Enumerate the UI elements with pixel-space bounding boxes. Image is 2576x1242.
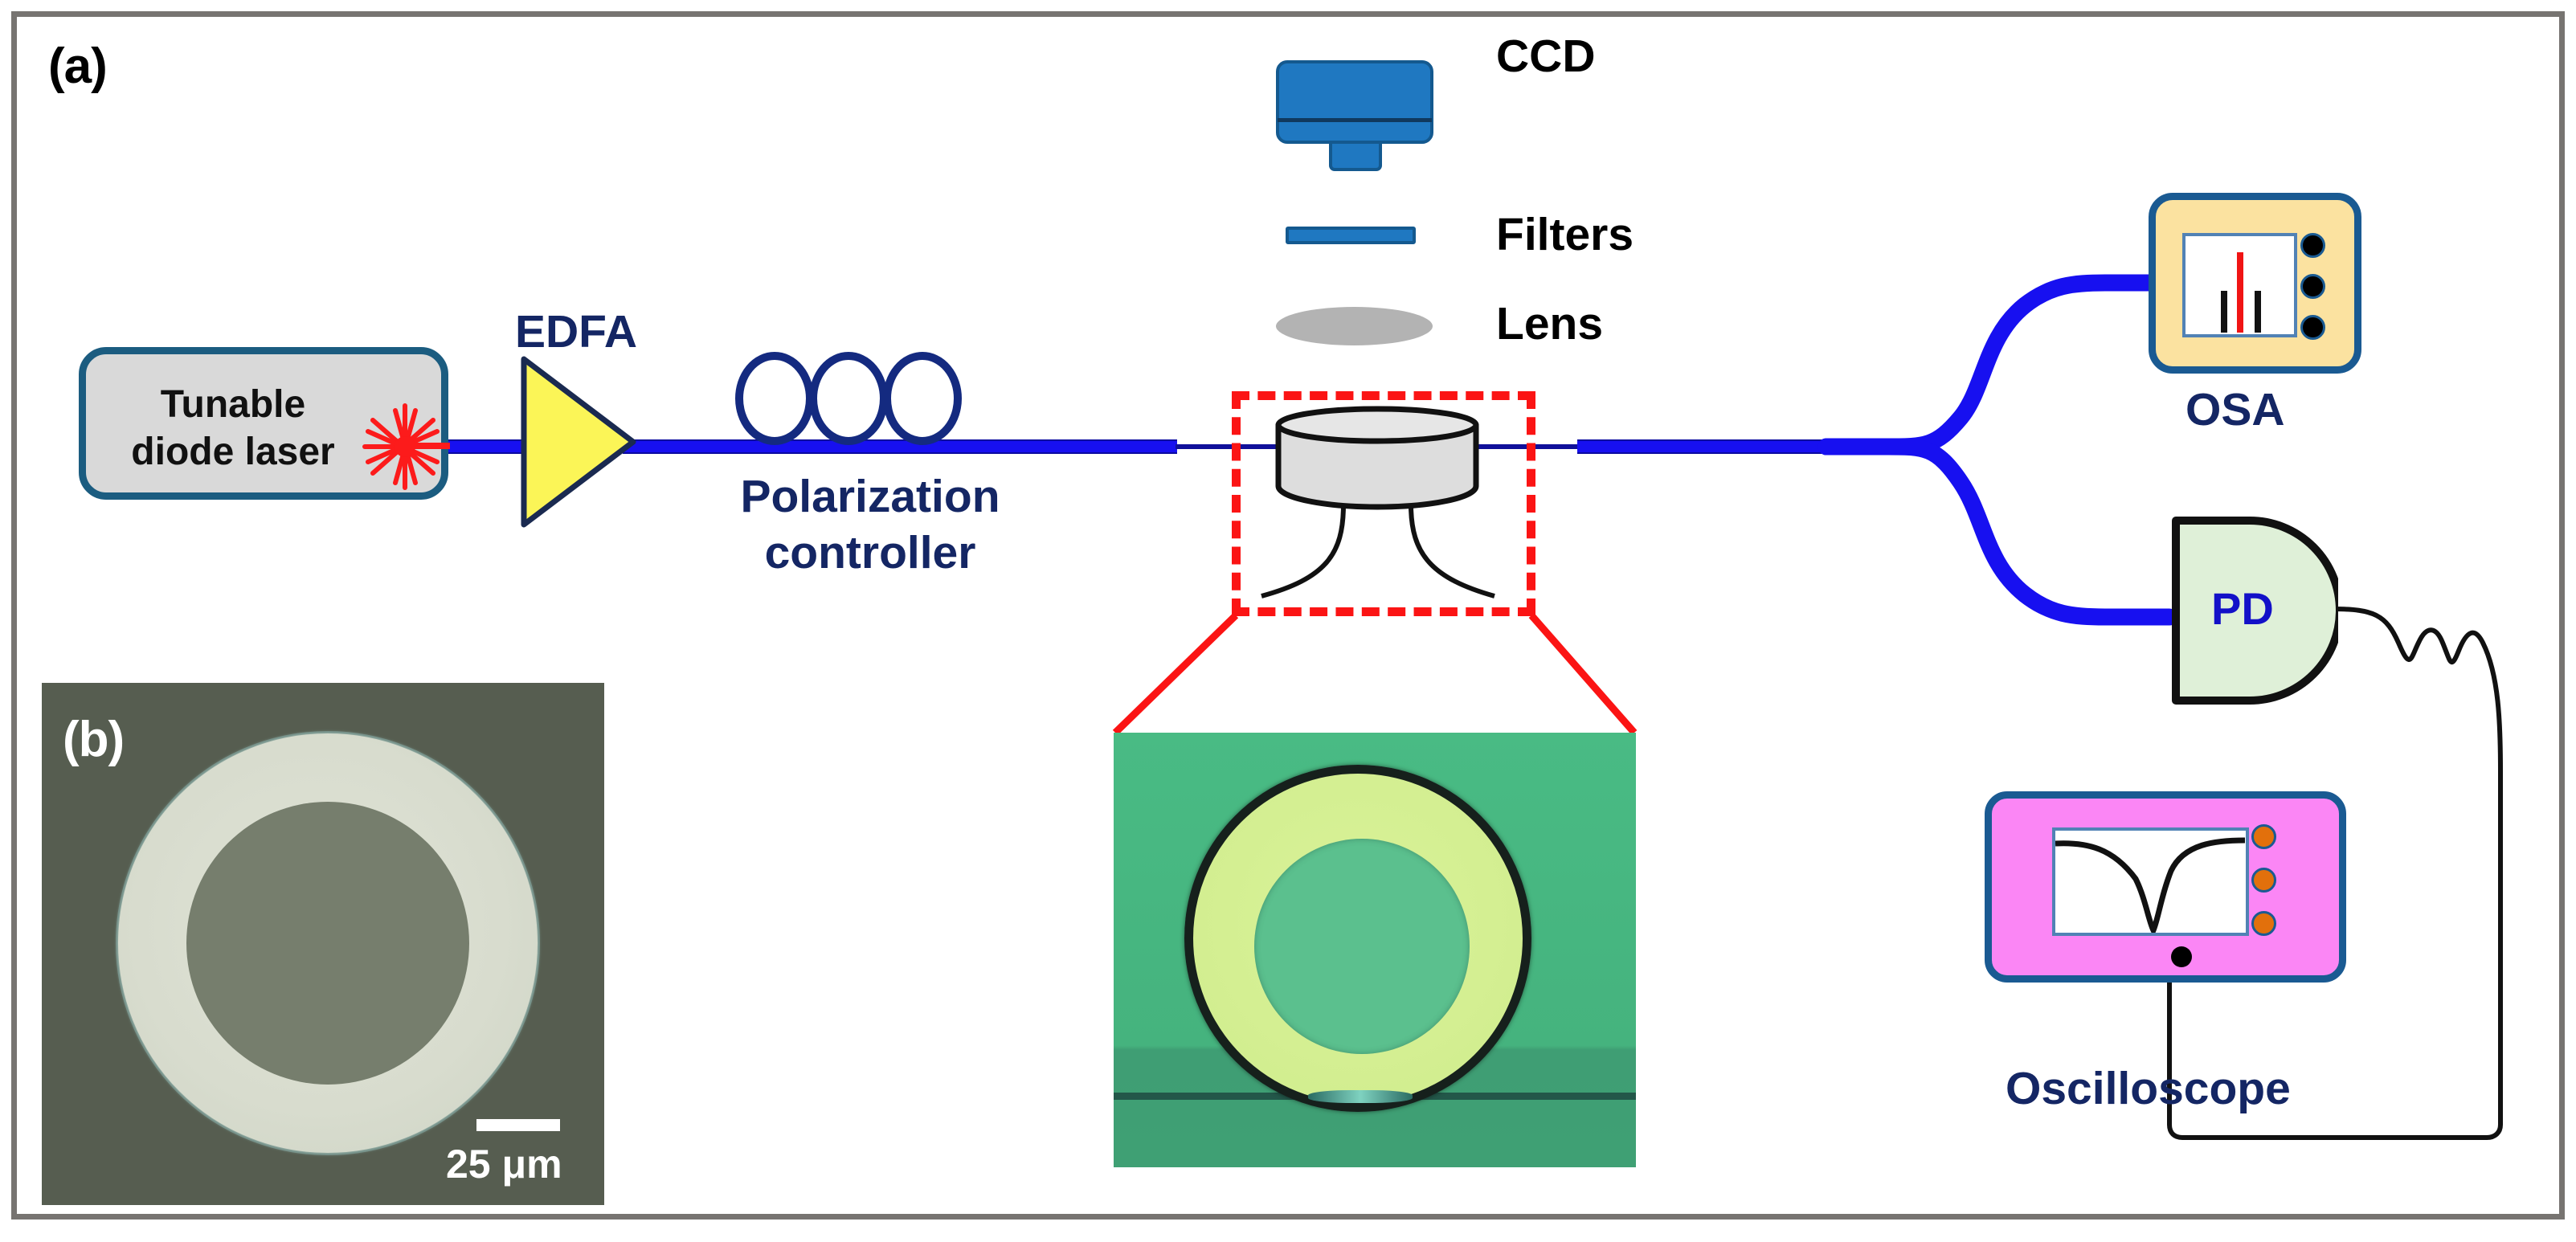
figure-root: (a) Tunable diode la: [0, 0, 2576, 1242]
oscilloscope-knob-3[interactable]: [2251, 911, 2276, 936]
ccd-divider: [1278, 118, 1432, 122]
microdisk-pedestal-icon: [1273, 406, 1482, 514]
filter-bar-icon: [1286, 227, 1416, 244]
osa-knob-3[interactable]: [2300, 315, 2325, 340]
osa-screen: [2182, 233, 2297, 337]
osa-label: OSA: [2186, 387, 2285, 433]
pd-label: PD: [2211, 586, 2274, 631]
fiber-taper-to-coupler: [1577, 439, 1826, 454]
ccd-stand: [1329, 141, 1382, 171]
ccd-body: [1276, 60, 1433, 144]
oscilloscope-input-port[interactable]: [2171, 946, 2192, 967]
legend-label-lens: Lens: [1496, 301, 1603, 347]
osa-spectrum-trace: [2186, 236, 2294, 334]
microdisk-side-view-photo: [1114, 733, 1636, 1167]
pc-label-line1: Polarization: [709, 474, 1031, 520]
osa-knob-1[interactable]: [2300, 233, 2325, 258]
laser-label-line1: Tunable: [161, 383, 305, 426]
lens-ellipse-icon: [1276, 307, 1433, 345]
oscilloscope-knob-2[interactable]: [2251, 868, 2276, 893]
oscilloscope-knob-1[interactable]: [2251, 824, 2276, 849]
legend-label-ccd: CCD: [1496, 34, 1596, 80]
amplifier-triangle-icon: [518, 353, 639, 530]
scale-bar-label: 25 μm: [446, 1144, 562, 1184]
panel-b-letter: (b): [63, 715, 124, 765]
edfa-label: EDFA: [515, 309, 637, 355]
legend-label-filters: Filters: [1496, 212, 1634, 258]
laser-beam-stub: [414, 443, 450, 449]
oscilloscope-screen: [2052, 827, 2249, 936]
micrograph-disk-inner: [186, 802, 469, 1085]
laser-label: Tunable diode laser: [100, 382, 366, 476]
scale-bar: [476, 1119, 560, 1131]
oscilloscope-label: Oscilloscope: [2006, 1066, 2291, 1112]
fiber-pc-to-taper: [960, 439, 1177, 454]
panel-a-letter: (a): [48, 42, 107, 92]
photo-disk-contact: [1308, 1090, 1413, 1103]
fiber-loops-icon: [733, 349, 966, 453]
osa-knob-2[interactable]: [2300, 274, 2325, 299]
laser-label-line2: diode laser: [131, 431, 334, 473]
photo-disk-inner: [1254, 839, 1470, 1054]
resonance-dip-trace: [2055, 831, 2246, 933]
pc-label-line2: controller: [709, 530, 1031, 576]
